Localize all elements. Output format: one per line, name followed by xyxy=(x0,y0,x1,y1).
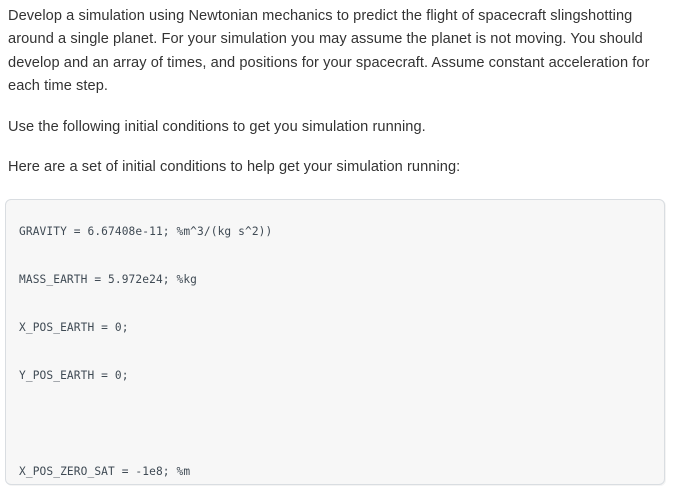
code-line: GRAVITY = 6.67408e-11; %m^3/(kg s^2)) xyxy=(19,223,654,241)
code-line: X_POS_ZERO_SAT = -1e8; %m xyxy=(19,463,654,481)
code-block-initial-conditions[interactable]: GRAVITY = 6.67408e-11; %m^3/(kg s^2)) MA… xyxy=(5,199,665,485)
paragraph-initial-conditions-intro: Use the following initial conditions to … xyxy=(8,116,671,139)
code-line: MASS_EARTH = 5.972e24; %kg xyxy=(19,271,654,289)
code-line: Y_POS_EARTH = 0; xyxy=(19,367,654,385)
paragraph-initial-conditions-lead: Here are a set of initial conditions to … xyxy=(8,156,671,179)
paragraph-problem-description: Develop a simulation using Newtonian mec… xyxy=(8,5,671,99)
prose-container: Develop a simulation using Newtonian mec… xyxy=(0,0,681,179)
problem-statement-page: Develop a simulation using Newtonian mec… xyxy=(0,0,681,486)
code-line: X_POS_EARTH = 0; xyxy=(19,319,654,337)
code-line-blank xyxy=(19,415,654,433)
